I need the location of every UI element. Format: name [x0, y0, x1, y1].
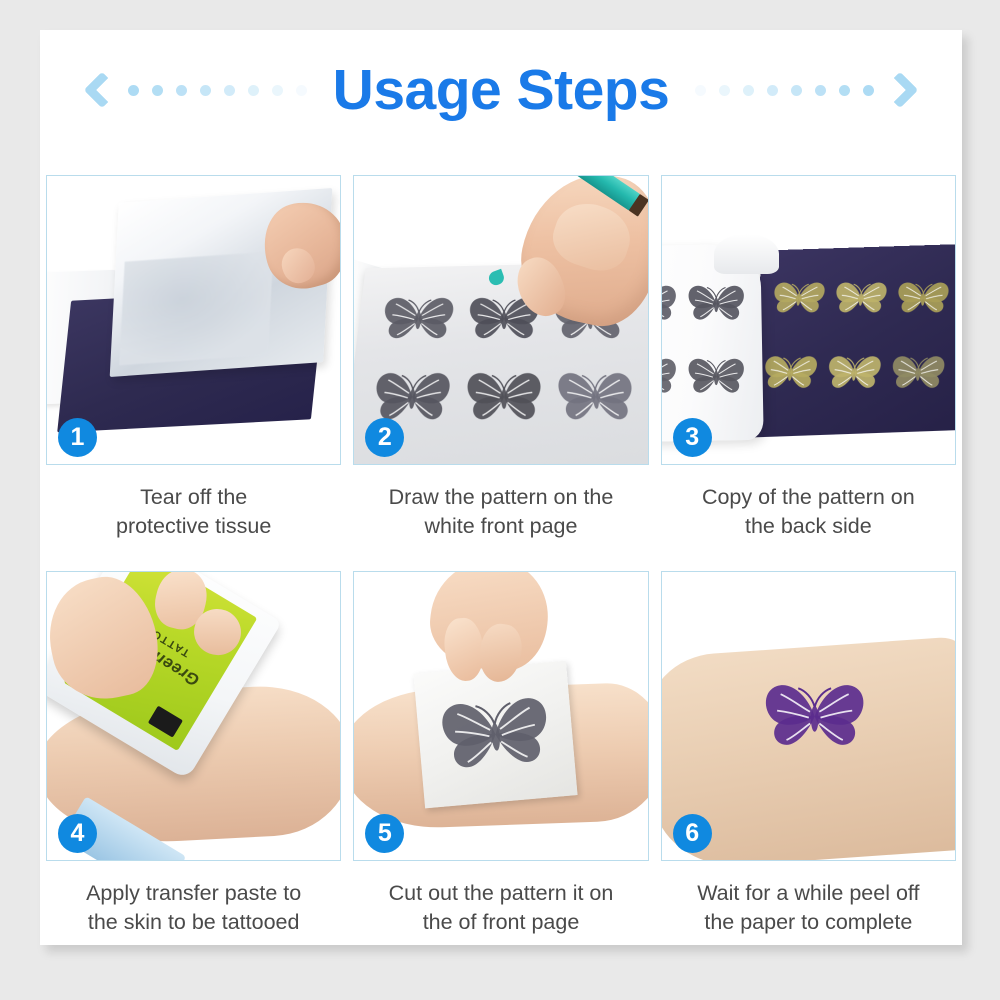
butterfly-icon [662, 268, 682, 339]
step-image-frame-2: 2 [353, 175, 648, 465]
step-photo-1 [47, 176, 340, 464]
step-photo-3 [662, 176, 955, 464]
step-card-3: 3 Copy of the pattern on the back side [661, 175, 956, 563]
step-image-frame-5: 5 [353, 571, 648, 861]
step-badge-1: 1 [58, 418, 97, 457]
butterfly-icon [458, 358, 550, 438]
deco-dot [695, 85, 706, 96]
butterfly-icon [683, 341, 749, 412]
butterfly-icon [828, 263, 895, 334]
step-image-frame-3: 3 [661, 175, 956, 465]
step-caption-6: Wait for a while peel off the paper to c… [661, 879, 956, 959]
step-photo-6 [662, 572, 955, 860]
deco-dot [815, 85, 826, 96]
header: Usage Steps [40, 30, 962, 150]
butterfly-icon [820, 335, 889, 410]
caption-line: Wait for a while peel off [667, 879, 950, 908]
caption-line: the paper to complete [667, 908, 950, 937]
step-caption-4: Apply transfer paste to the skin to be t… [46, 879, 341, 959]
deco-dot [200, 85, 211, 96]
step-image-frame-4: Green Card TATTOO 4 [46, 571, 341, 861]
step-image-frame-6: 6 [661, 571, 956, 861]
step-card-4: Green Card TATTOO 4 Apply transfer paste… [46, 571, 341, 959]
caption-line: Apply transfer paste to [52, 879, 335, 908]
caption-line: the of front page [359, 908, 642, 937]
deco-dot [176, 85, 187, 96]
deco-dot [296, 85, 307, 96]
deco-dot [248, 85, 259, 96]
butterfly-icon [373, 285, 461, 355]
deco-dot [719, 85, 730, 96]
step-photo-5 [354, 572, 647, 860]
infographic-card: Usage Steps 1 [40, 30, 962, 945]
deco-dot [743, 85, 754, 96]
step-card-5: 5 Cut out the pattern it on the of front… [353, 571, 648, 959]
chevron-left-icon [83, 72, 120, 109]
deco-dot [128, 85, 139, 96]
step-photo-4: Green Card TATTOO [47, 572, 340, 860]
deco-dot [839, 85, 850, 96]
deco-dot [224, 85, 235, 96]
step-badge-4: 4 [58, 814, 97, 853]
butterfly-icon [662, 341, 682, 412]
deco-dot [272, 85, 283, 96]
header-decoration-left [89, 77, 307, 103]
step-card-1: 1 Tear off the protective tissue [46, 175, 341, 563]
step-image-frame-1: 1 [46, 175, 341, 465]
deco-dot [863, 85, 874, 96]
deco-dot [767, 85, 778, 96]
step-card-6: 6 Wait for a while peel off the paper to… [661, 571, 956, 959]
caption-line: protective tissue [52, 512, 335, 541]
step-caption-1: Tear off the protective tissue [46, 483, 341, 563]
steps-grid: 1 Tear off the protective tissue [42, 175, 960, 959]
step-badge-6: 6 [673, 814, 712, 853]
caption-line: Copy of the pattern on [667, 483, 950, 512]
step-card-2: 2 Draw the pattern on the white front pa… [353, 175, 648, 563]
butterfly-icon [428, 674, 562, 795]
step-photo-2 [354, 176, 647, 464]
butterfly-icon [683, 268, 749, 339]
caption-line: the skin to be tattooed [52, 908, 335, 937]
deco-dot [152, 85, 163, 96]
header-decoration-right [695, 77, 913, 103]
chevron-right-icon [882, 72, 919, 109]
caption-line: Cut out the pattern it on [359, 879, 642, 908]
caption-line: Tear off the [52, 483, 335, 512]
caption-line: Draw the pattern on the [359, 483, 642, 512]
butterfly-icon [764, 263, 832, 334]
butterfly-icon [891, 263, 955, 334]
step-caption-5: Cut out the pattern it on the of front p… [353, 879, 648, 959]
gray-butterfly-originals [662, 268, 750, 412]
butterfly-icon [755, 335, 826, 410]
butterfly-icon [550, 358, 645, 438]
step-caption-2: Draw the pattern on the white front page [353, 483, 648, 563]
caption-line: the back side [667, 512, 950, 541]
cut-out-pattern-square [413, 661, 577, 809]
deco-dot [791, 85, 802, 96]
caption-line: white front page [359, 512, 642, 541]
butterfly-icon [885, 335, 952, 410]
butterfly-tattoo-icon [756, 656, 873, 777]
page-title: Usage Steps [307, 62, 696, 119]
gold-butterfly-copies [755, 263, 955, 410]
step-badge-3: 3 [673, 418, 712, 457]
step-caption-3: Copy of the pattern on the back side [661, 483, 956, 563]
